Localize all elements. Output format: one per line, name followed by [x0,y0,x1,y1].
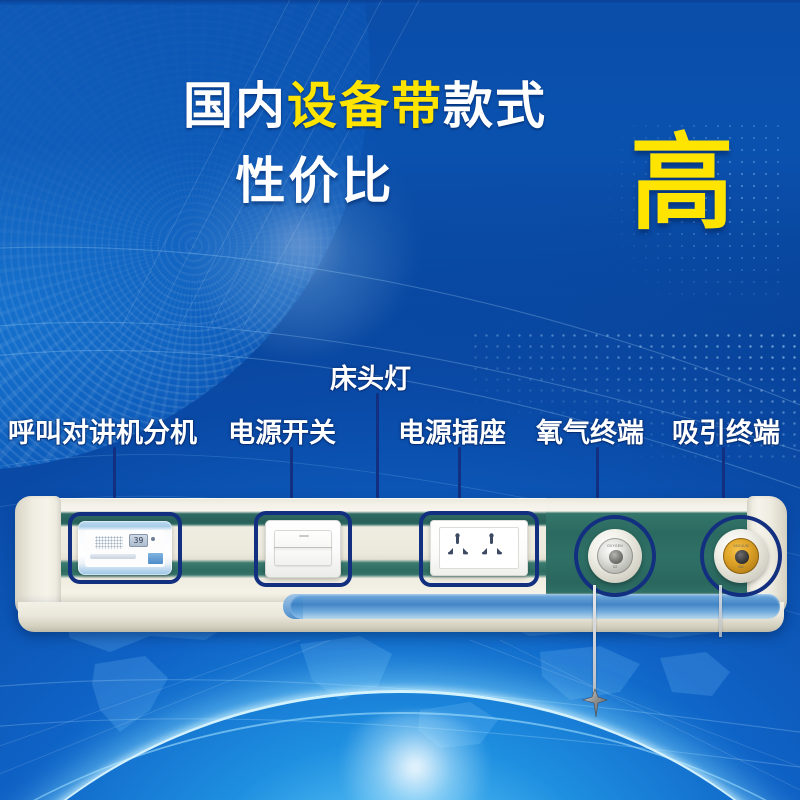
medical-bed-head-unit: 39 [18,498,784,633]
suction-port-hole [735,550,749,564]
headline-line-2-row: 性价比 高 [0,146,800,246]
callout-label-power-switch: 电源开关 [228,411,336,450]
intercom-module[interactable]: 39 [78,521,172,575]
bed-lamp-pull-cord[interactable] [593,585,596,695]
product-banner: 国内设备带款式 性价比 高 呼叫对讲机分机 电源开关 床头灯 电源插座 氧气终端… [0,0,800,800]
panel-end-cap-left [15,496,61,618]
callout-label-suction-terminal: 吸引终端 [672,411,780,450]
rocker-indicator-mark [299,535,309,537]
power-switch-module[interactable] [265,520,341,578]
callout-label-intercom: 呼叫对讲机分机 [8,411,197,450]
suction-top-text: VACUUM [723,544,759,548]
intercom-slot [90,554,136,559]
oxygen-top-text: OXYGEN [597,544,633,548]
oxygen-bottom-text: O2 [597,565,633,569]
callout-label-power-socket: 电源插座 [398,411,506,450]
suction-bottom-text: VAC [723,565,759,569]
speaker-grille-icon [95,536,123,549]
panel-rail-blue [290,594,780,619]
intercom-display: 39 [129,534,148,547]
headline-part-equipment-belt: 设备带 [287,78,443,134]
callout-label-oxygen-terminal: 氧气终端 [536,411,644,450]
intercom-call-button[interactable] [147,552,164,565]
oxygen-port-face: OXYGEN O2 [597,538,633,574]
intercom-faceplate: 39 [85,530,165,567]
headline-emphasis-high: 高 [630,132,736,236]
headline-block: 国内设备带款式 性价比 高 [0,78,800,246]
headline-part-domestic: 国内 [183,78,287,134]
status-dot-icon [151,537,155,541]
socket-pin-holes-icon [439,527,519,569]
socket-faceplate [439,527,519,569]
callout-label-bed-lamp: 床头灯 [330,357,411,396]
power-socket-module[interactable] [430,520,528,576]
suction-port-face: VACUUM VAC [723,538,759,574]
rocker-split-line [274,547,332,548]
oxygen-port-hole [609,550,623,564]
suction-terminal-cord [719,585,722,637]
headline-part-style: 款式 [443,78,547,134]
pull-cord-handle-icon[interactable] [582,688,608,718]
suction-terminal[interactable]: VACUUM VAC [714,529,768,583]
oxygen-terminal[interactable]: OXYGEN O2 [588,529,642,583]
